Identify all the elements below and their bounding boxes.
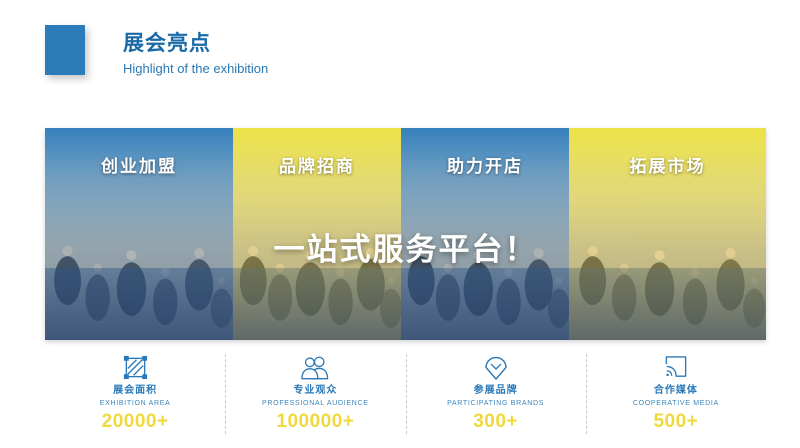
stat-value: 300+ [473, 410, 518, 434]
stat-label-en: COOPERATIVE MEDIA [633, 398, 719, 409]
exhibition-area-icon [122, 352, 149, 382]
stat-participating-brands: 参展品牌 PARTICIPATING BRANDS 300+ [406, 352, 586, 440]
stat-professional-audience: 专业观众 PROFESSIONAL AUDIENCE 100000+ [225, 352, 405, 440]
professional-audience-icon [301, 352, 329, 382]
panel-label: 拓展市场 [569, 152, 766, 177]
participating-brands-icon [482, 352, 510, 382]
page-title: 展会亮点 [123, 31, 268, 57]
header-accent-bar [45, 25, 85, 75]
panel-label: 品牌招商 [233, 152, 401, 177]
cooperative-media-icon [663, 352, 689, 382]
gallery-panel-brand[interactable]: 品牌招商 [233, 128, 401, 340]
stat-label-cn: 专业观众 [293, 384, 337, 397]
slide-header: 展会亮点 Highlight of the exhibition [0, 0, 800, 110]
stat-value: 20000+ [102, 410, 169, 434]
stat-exhibition-area: 展会面积 EXHIBITION AREA 20000+ [45, 352, 225, 440]
page-subtitle: Highlight of the exhibition [123, 60, 268, 78]
highlight-gallery: 创业加盟 品牌招商 助力开店 拓展市场 [45, 128, 766, 340]
gallery-panel-store[interactable]: 助力开店 [401, 128, 569, 340]
gallery-panel-entrepreneur[interactable]: 创业加盟 [45, 128, 233, 340]
stat-label-en: PROFESSIONAL AUDIENCE [262, 398, 369, 409]
panel-label: 助力开店 [401, 152, 569, 177]
stat-label-en: PARTICIPATING BRANDS [447, 398, 544, 409]
stat-label-cn: 参展品牌 [474, 384, 518, 397]
stat-value: 100000+ [276, 410, 354, 434]
statistics-row: 展会面积 EXHIBITION AREA 20000+ 专业观众 PROFESS… [45, 352, 766, 440]
stat-value: 500+ [653, 410, 698, 434]
stat-cooperative-media: 合作媒体 COOPERATIVE MEDIA 500+ [586, 352, 766, 440]
stat-label-cn: 合作媒体 [654, 384, 698, 397]
header-text-group: 展会亮点 Highlight of the exhibition [123, 31, 268, 78]
stat-label-cn: 展会面积 [113, 384, 157, 397]
panel-label: 创业加盟 [45, 152, 233, 177]
stat-label-en: EXHIBITION AREA [100, 398, 171, 409]
gallery-panel-market[interactable]: 拓展市场 [569, 128, 766, 340]
